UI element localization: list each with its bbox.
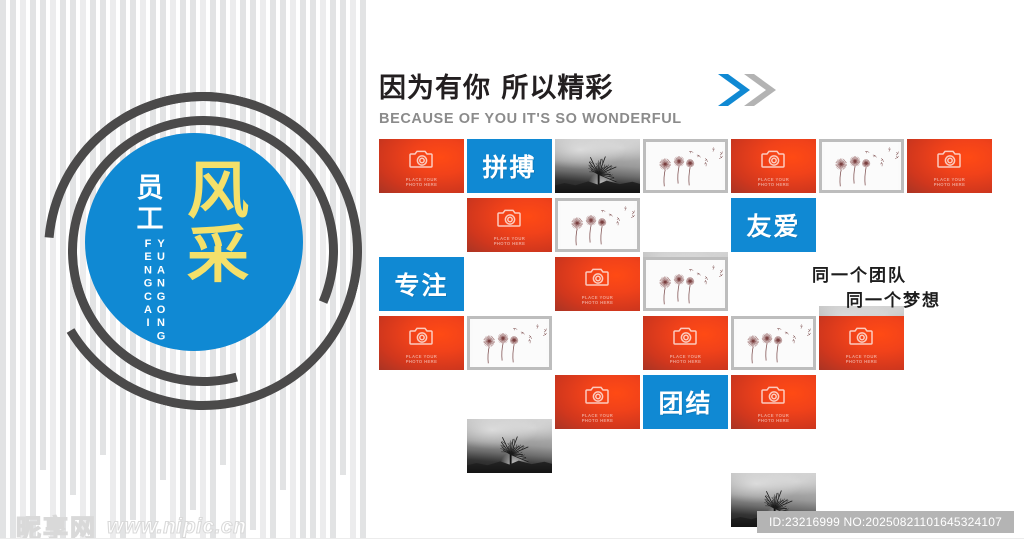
dandelion-illustration	[822, 142, 901, 190]
photo-frame-inner	[558, 201, 637, 249]
photo-placeholder-tile[interactable]: PLACE YOURPHOTO HERE	[731, 375, 816, 429]
photo-placeholder-tile[interactable]: PLACE YOURPHOTO HERE	[555, 257, 640, 311]
grid-value-label[interactable]: 团结	[643, 375, 728, 429]
background-stripe	[20, 0, 26, 540]
tree-silhouette	[574, 146, 623, 186]
grid-value-label[interactable]: 拼搏	[467, 139, 552, 193]
photo-frame-inner	[646, 142, 725, 190]
camera-placeholder-icon: PLACE YOURPHOTO HERE	[555, 385, 640, 423]
emblem-disc: 员工 YUANGONG FENGCAI 风采	[85, 133, 303, 351]
photo-placeholder-tile[interactable]: PLACE YOURPHOTO HERE	[907, 139, 992, 193]
grid-value-label-text: 团结	[658, 384, 712, 420]
background-stripe	[10, 0, 16, 551]
watermark-url: www.nipic.cn	[107, 515, 246, 539]
tree-silhouette	[486, 426, 535, 466]
slogan-line-2: 同一个梦想	[812, 289, 987, 314]
background-stripe	[0, 0, 6, 551]
grid-value-label[interactable]: 专注	[379, 257, 464, 311]
photo-placeholder-tile[interactable]: PLACE YOURPHOTO HERE	[379, 139, 464, 193]
camera-placeholder-icon: PLACE YOURPHOTO HERE	[643, 326, 728, 364]
team-slogan: 同一个团队 同一个梦想	[812, 264, 987, 314]
grid-value-label[interactable]: 友爱	[731, 198, 816, 252]
dandelion-illustration	[558, 201, 637, 249]
photo-tile-dandelion[interactable]	[819, 139, 904, 193]
double-chevron-icon	[714, 68, 784, 112]
camera-placeholder-icon: PLACE YOURPHOTO HERE	[731, 385, 816, 423]
photo-placeholder-tile[interactable]: PLACE YOURPHOTO HERE	[467, 198, 552, 252]
photo-frame-inner	[822, 142, 901, 190]
background-stripe	[360, 0, 366, 551]
photo-tile-dandelion[interactable]	[555, 198, 640, 252]
photo-tile-tree[interactable]	[555, 139, 640, 193]
photo-tile-dandelion[interactable]	[731, 316, 816, 370]
camera-placeholder-icon: PLACE YOURPHOTO HERE	[731, 149, 816, 187]
camera-placeholder-icon: PLACE YOURPHOTO HERE	[907, 149, 992, 187]
emblem-title-large: 风采	[175, 159, 261, 287]
emblem-title-small: 员工	[133, 173, 167, 235]
grid-value-label-text: 拼搏	[482, 148, 536, 184]
poster-canvas: 员工 YUANGONG FENGCAI 风采 因为有你 所以精彩 BECAUSE…	[0, 0, 1024, 551]
asset-id-badge: ID:23216999 NO:20250821101645324107	[757, 511, 1014, 533]
photo-tile-dandelion[interactable]	[467, 316, 552, 370]
headline-chinese: 因为有你 所以精彩	[379, 66, 682, 105]
photo-placeholder-tile[interactable]: PLACE YOURPHOTO HERE	[555, 375, 640, 429]
photo-tile-dandelion[interactable]	[643, 139, 728, 193]
dandelion-illustration	[646, 260, 725, 308]
camera-placeholder-icon: PLACE YOURPHOTO HERE	[467, 208, 552, 246]
dandelion-illustration	[470, 319, 549, 367]
headline-english: BECAUSE OF YOU IT'S SO WONDERFUL	[379, 111, 682, 127]
employee-emblem: 员工 YUANGONG FENGCAI 风采	[44, 92, 344, 392]
photo-frame-inner	[470, 319, 549, 367]
camera-placeholder-icon: PLACE YOURPHOTO HERE	[379, 326, 464, 364]
camera-placeholder-icon: PLACE YOURPHOTO HERE	[379, 149, 464, 187]
camera-placeholder-icon: PLACE YOURPHOTO HERE	[555, 267, 640, 305]
photo-tile-dandelion[interactable]	[643, 257, 728, 311]
photo-frame-inner	[646, 260, 725, 308]
photo-frame-inner	[734, 319, 813, 367]
headline-block: 因为有你 所以精彩 BECAUSE OF YOU IT'S SO WONDERF…	[379, 66, 682, 127]
photo-placeholder-tile[interactable]: PLACE YOURPHOTO HERE	[819, 316, 904, 370]
footer-divider	[0, 538, 1024, 551]
photo-tile-tree[interactable]	[467, 419, 552, 473]
slogan-line-1: 同一个团队	[812, 266, 907, 286]
dandelion-illustration	[734, 319, 813, 367]
grid-value-label-text: 友爱	[746, 207, 800, 243]
camera-placeholder-icon: PLACE YOURPHOTO HERE	[819, 326, 904, 364]
grid-value-label-text: 专注	[394, 266, 448, 302]
photo-placeholder-tile[interactable]: PLACE YOURPHOTO HERE	[731, 139, 816, 193]
photo-placeholder-tile[interactable]: PLACE YOURPHOTO HERE	[643, 316, 728, 370]
emblem-pinyin: YUANGONG FENGCAI	[141, 238, 167, 338]
background-stripe	[30, 0, 36, 551]
dandelion-illustration	[646, 142, 725, 190]
photo-placeholder-tile[interactable]: PLACE YOURPHOTO HERE	[379, 316, 464, 370]
